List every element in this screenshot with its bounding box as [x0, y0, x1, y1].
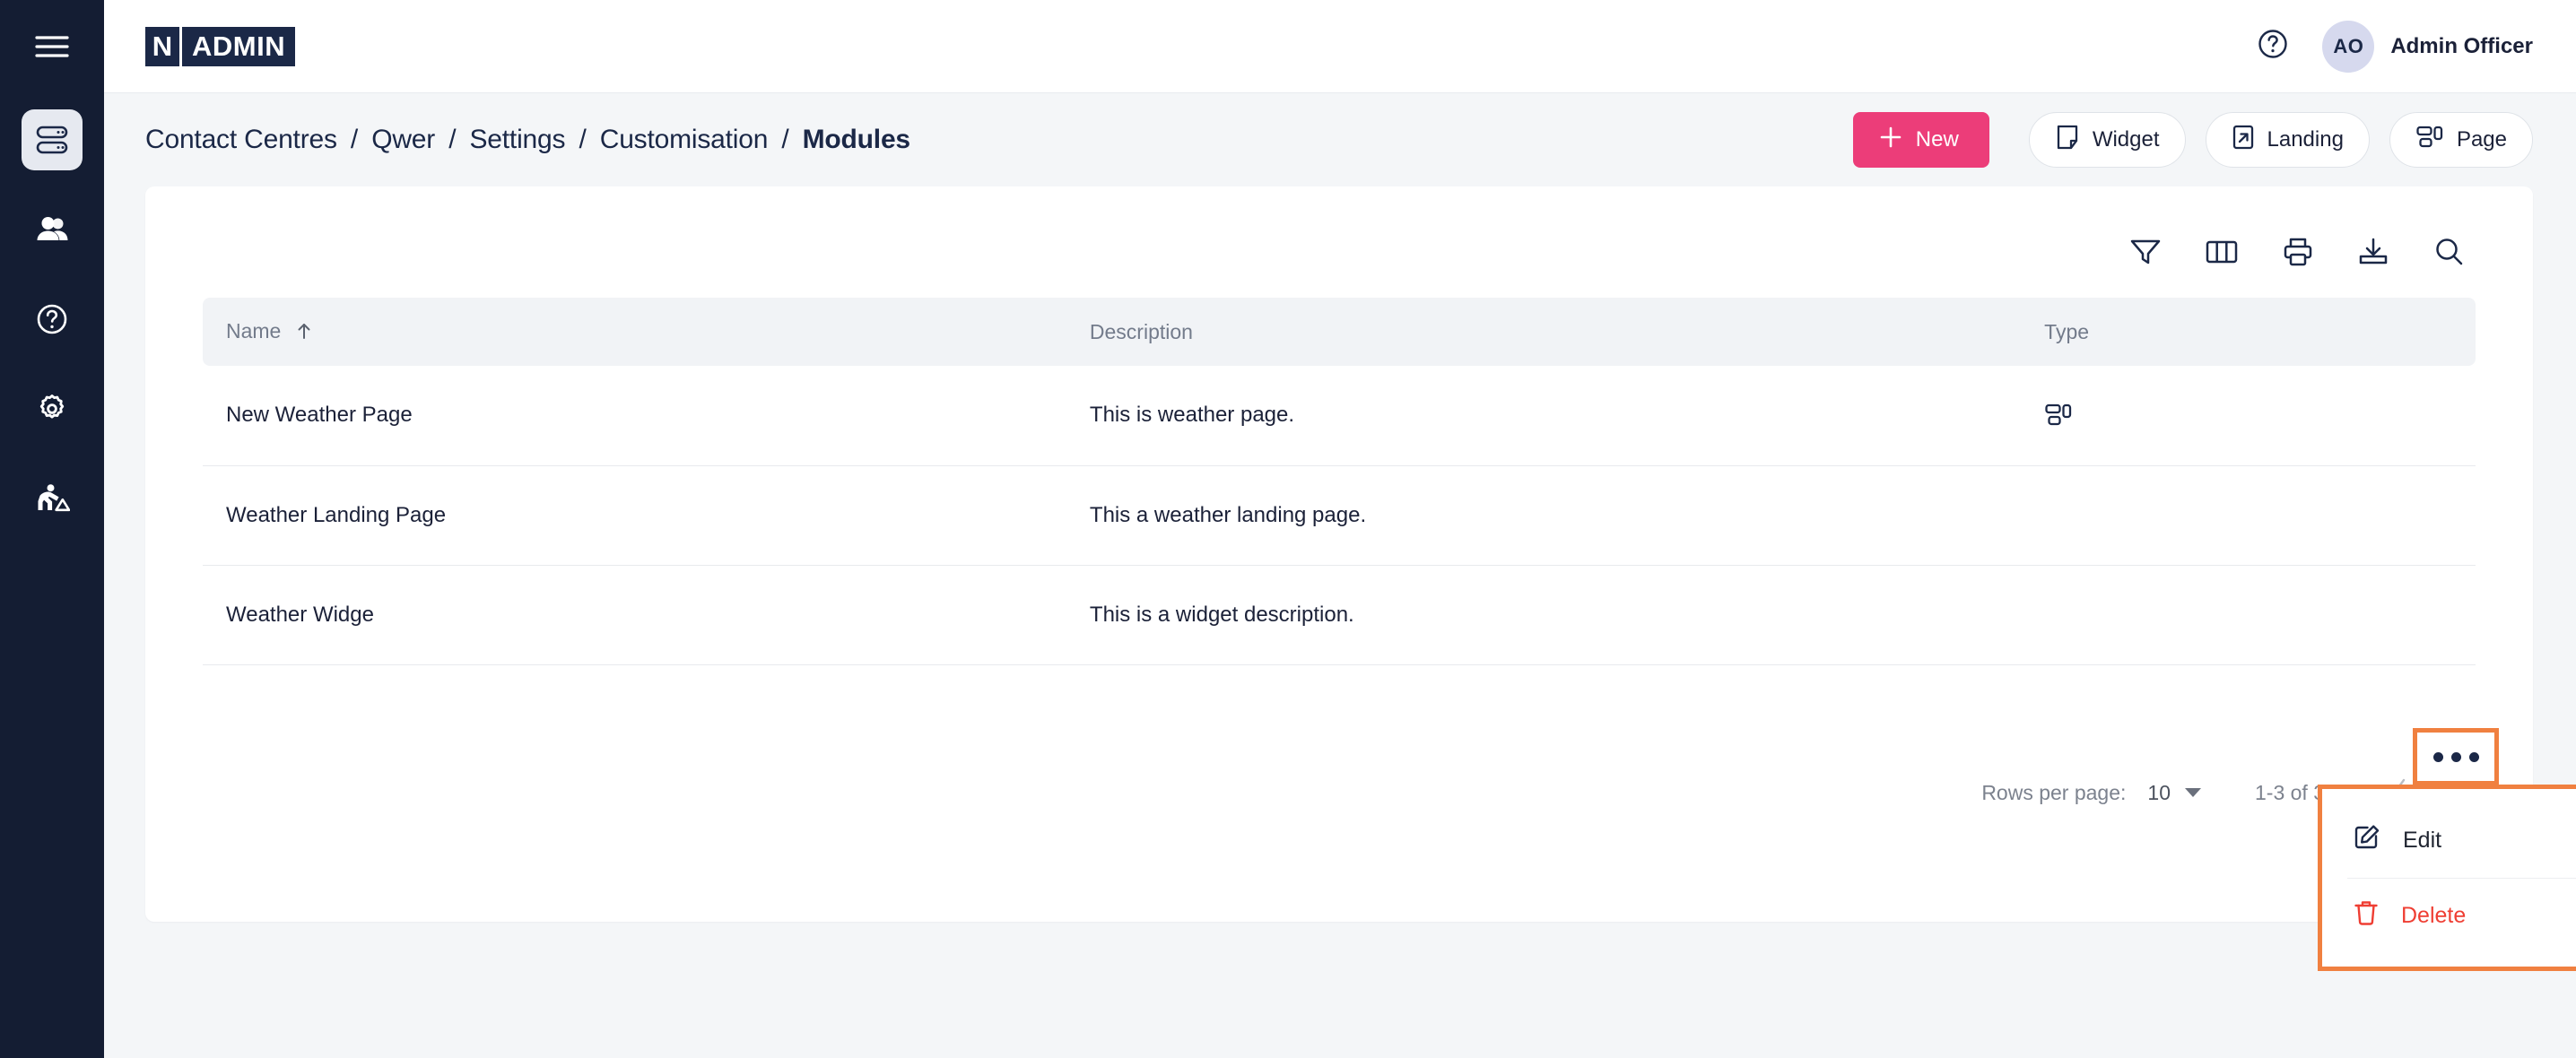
cell-description: This a weather landing page. [1066, 465, 2021, 565]
pagination-range: 1-3 of 3 [2255, 781, 2325, 805]
top-header-right: AO Admin Officer [2256, 21, 2533, 73]
rows-per-page-value: 10 [2147, 781, 2171, 805]
column-header-description[interactable]: Description [1066, 298, 2021, 366]
chevron-down-icon [2185, 788, 2201, 797]
sidebar-nav [22, 93, 83, 529]
menu-item-delete-label: Delete [2401, 903, 2466, 929]
breadcrumb-separator: / [781, 125, 788, 154]
server-icon [35, 125, 69, 155]
layout-page-icon [2415, 125, 2444, 156]
page-button-label: Page [2457, 127, 2507, 152]
rows-per-page-label: Rows per page: [1981, 781, 2126, 805]
page-actions: New Widget Landing [1853, 112, 2533, 168]
cell-description: This is weather page. [1066, 366, 2021, 465]
print-icon[interactable] [2282, 237, 2314, 267]
help-circle-icon [35, 302, 69, 336]
app-logo[interactable]: N ADMIN [145, 27, 295, 66]
hamburger-menu-button[interactable] [0, 0, 104, 93]
row-actions-menu: Edit Delete [2318, 785, 2576, 971]
cell-actions [2293, 565, 2476, 664]
page-button[interactable]: Page [2389, 112, 2533, 168]
rows-per-page-select[interactable]: 10 [2147, 781, 2201, 805]
widget-icon [2055, 124, 2080, 157]
table-row[interactable]: Weather Widge This is a widget descripti… [203, 565, 2476, 664]
layout-page-icon [2044, 403, 2293, 428]
widget-button-label: Widget [2093, 127, 2160, 152]
breadcrumb-item-3[interactable]: Customisation [600, 125, 768, 154]
table-row[interactable]: Weather Landing Page This a weather land… [203, 465, 2476, 565]
sidebar-item-settings[interactable] [22, 378, 83, 439]
column-header-type[interactable]: Type [2021, 298, 2293, 366]
widget-button[interactable]: Widget [2029, 112, 2186, 168]
filter-icon[interactable] [2129, 237, 2162, 267]
sidebar-item-modules[interactable] [22, 109, 83, 170]
table-header-row: Name Description Type [203, 298, 2476, 366]
cell-name: New Weather Page [203, 366, 1066, 465]
new-button-label: New [1916, 127, 1959, 152]
cell-name: Weather Widge [203, 565, 1066, 664]
trash-icon [2353, 898, 2380, 933]
help-button[interactable] [2256, 27, 2290, 65]
top-header: N ADMIN AO Admin Officer [104, 0, 2576, 93]
landing-button[interactable]: Landing [2206, 112, 2370, 168]
sidebar-item-users[interactable] [22, 199, 83, 260]
logo-mark: N [145, 27, 179, 66]
external-link-icon [2232, 124, 2255, 157]
breadcrumb: Contact Centres / Qwer / Settings / Cust… [145, 125, 910, 155]
breadcrumb-current: Modules [803, 125, 910, 154]
menu-item-edit-label: Edit [2403, 828, 2441, 854]
user-menu[interactable]: AO Admin Officer [2322, 21, 2533, 73]
breadcrumb-separator: / [351, 125, 358, 154]
new-button[interactable]: New [1853, 112, 1989, 168]
breadcrumb-item-0[interactable]: Contact Centres [145, 125, 337, 154]
columns-icon[interactable] [2205, 238, 2239, 266]
table-body: New Weather Page This is weather page. [203, 366, 2476, 664]
cell-type [2021, 565, 2293, 664]
avatar: AO [2322, 21, 2374, 73]
sidebar-item-help[interactable] [22, 289, 83, 350]
column-header-name-label: Name [226, 319, 281, 343]
column-header-description-label: Description [1090, 320, 1193, 343]
modules-table: Name Description Type [203, 298, 2476, 665]
user-name: Admin Officer [2390, 34, 2533, 59]
breadcrumb-separator: / [448, 125, 456, 154]
cell-actions [2293, 465, 2476, 565]
search-icon[interactable] [2432, 237, 2465, 267]
row-actions-menu-button[interactable] [2413, 728, 2499, 785]
menu-item-delete[interactable]: Delete [2322, 879, 2576, 953]
more-horizontal-icon [2433, 752, 2479, 762]
cell-actions [2293, 366, 2476, 465]
breadcrumb-separator: / [579, 125, 586, 154]
edit-pencil-icon [2353, 823, 2381, 858]
plus-icon [1878, 125, 1903, 156]
sidebar-item-maintenance[interactable] [22, 468, 83, 529]
under-construction-icon [34, 483, 70, 514]
hamburger-menu-icon [35, 34, 69, 59]
logo-name: ADMIN [182, 27, 295, 66]
column-header-name[interactable]: Name [203, 298, 1066, 366]
landing-button-label: Landing [2267, 127, 2344, 152]
users-icon [35, 214, 69, 245]
sidebar [0, 0, 104, 1058]
table-head: Name Description Type [203, 298, 2476, 366]
cell-description: This is a widget description. [1066, 565, 2021, 664]
menu-item-edit[interactable]: Edit [2322, 803, 2576, 878]
cell-type [2021, 366, 2293, 465]
breadcrumb-bar: Contact Centres / Qwer / Settings / Cust… [104, 93, 2576, 186]
cell-name: Weather Landing Page [203, 465, 1066, 565]
question-circle-icon [2256, 27, 2290, 65]
settings-gear-icon [35, 392, 69, 426]
table-toolbar [145, 186, 2533, 267]
download-icon[interactable] [2357, 237, 2389, 267]
arrow-up-icon [296, 321, 312, 345]
content-wrap: Name Description Type [104, 186, 2576, 1058]
column-header-actions [2293, 298, 2476, 366]
breadcrumb-item-1[interactable]: Qwer [371, 125, 435, 154]
table-row[interactable]: New Weather Page This is weather page. [203, 366, 2476, 465]
cell-type [2021, 465, 2293, 565]
modules-card: Name Description Type [145, 186, 2533, 922]
main-area: N ADMIN AO Admin Officer Contact [104, 0, 2576, 1058]
column-header-type-label: Type [2044, 320, 2089, 343]
breadcrumb-item-2[interactable]: Settings [470, 125, 566, 154]
